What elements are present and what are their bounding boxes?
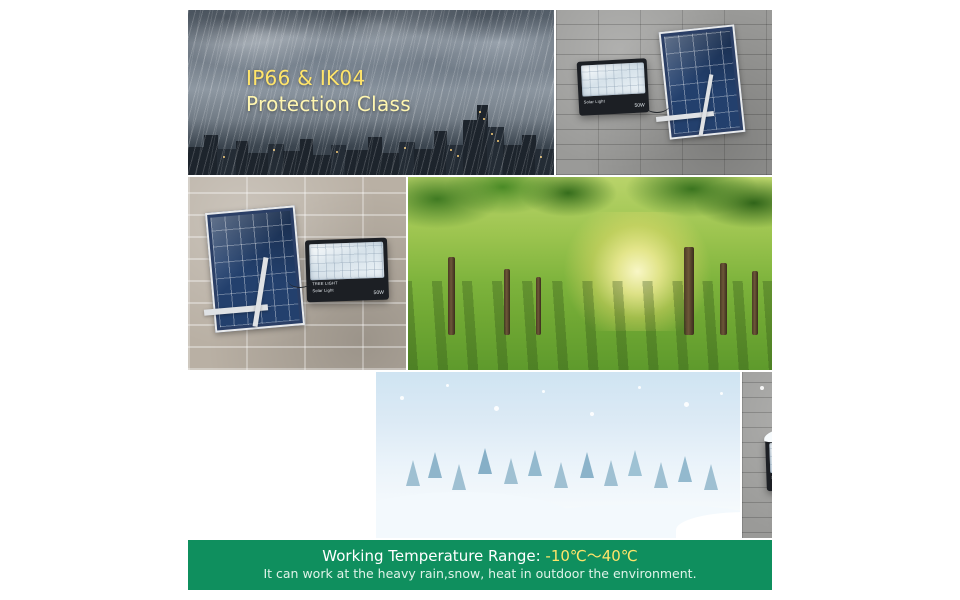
headline-line-1: IP66 & IK04 <box>246 65 411 91</box>
left-margin <box>0 0 188 600</box>
light-lens <box>769 441 772 473</box>
tile-snow-forest-scene <box>376 372 740 538</box>
tile-beige-wall-scene: TREE LIGHT Solar Light 50W <box>188 177 406 370</box>
banner-subtitle: It can work at the heavy rain,snow, heat… <box>188 566 772 581</box>
tile-snow-wall-scene: Solar Light 50W <box>742 372 772 538</box>
light-brand-label: Solar Light <box>583 98 605 104</box>
image-collage: IP66 & IK04 Protection Class Solar Light… <box>188 10 772 538</box>
temperature-banner: Working Temperature Range: -10℃～40℃ It c… <box>188 540 772 590</box>
tile-grey-wall-scene: Solar Light 50W <box>556 10 772 175</box>
grass-shadows <box>408 281 772 370</box>
right-margin <box>772 0 960 600</box>
light-snow-cap <box>764 425 772 444</box>
flood-light: Solar Light 50W <box>765 437 772 491</box>
protection-headline: IP66 & IK04 Protection Class <box>246 65 411 117</box>
light-cable <box>288 273 312 288</box>
light-brand-label: Solar Light <box>771 475 772 481</box>
tile-rain-scene: IP66 & IK04 Protection Class <box>188 10 554 175</box>
banner-temperature-value: -10℃～40℃ <box>545 547 637 565</box>
light-brand-label: TREE LIGHT <box>312 280 338 286</box>
light-lens <box>580 62 645 97</box>
light-lens <box>309 242 384 281</box>
light-wattage-label: 50W <box>374 289 384 295</box>
flood-light: Solar Light 50W <box>577 58 650 116</box>
light-brand-sublabel: Solar Light <box>312 288 333 294</box>
flood-light: TREE LIGHT Solar Light 50W <box>305 238 389 303</box>
banner-title-prefix: Working Temperature Range: <box>322 547 540 565</box>
tile-sunny-forest-scene <box>408 177 772 370</box>
light-cable <box>644 96 670 113</box>
headline-line-2: Protection Class <box>246 91 411 117</box>
banner-title: Working Temperature Range: -10℃～40℃ <box>188 545 772 566</box>
product-infographic: IP66 & IK04 Protection Class Solar Light… <box>0 0 960 600</box>
